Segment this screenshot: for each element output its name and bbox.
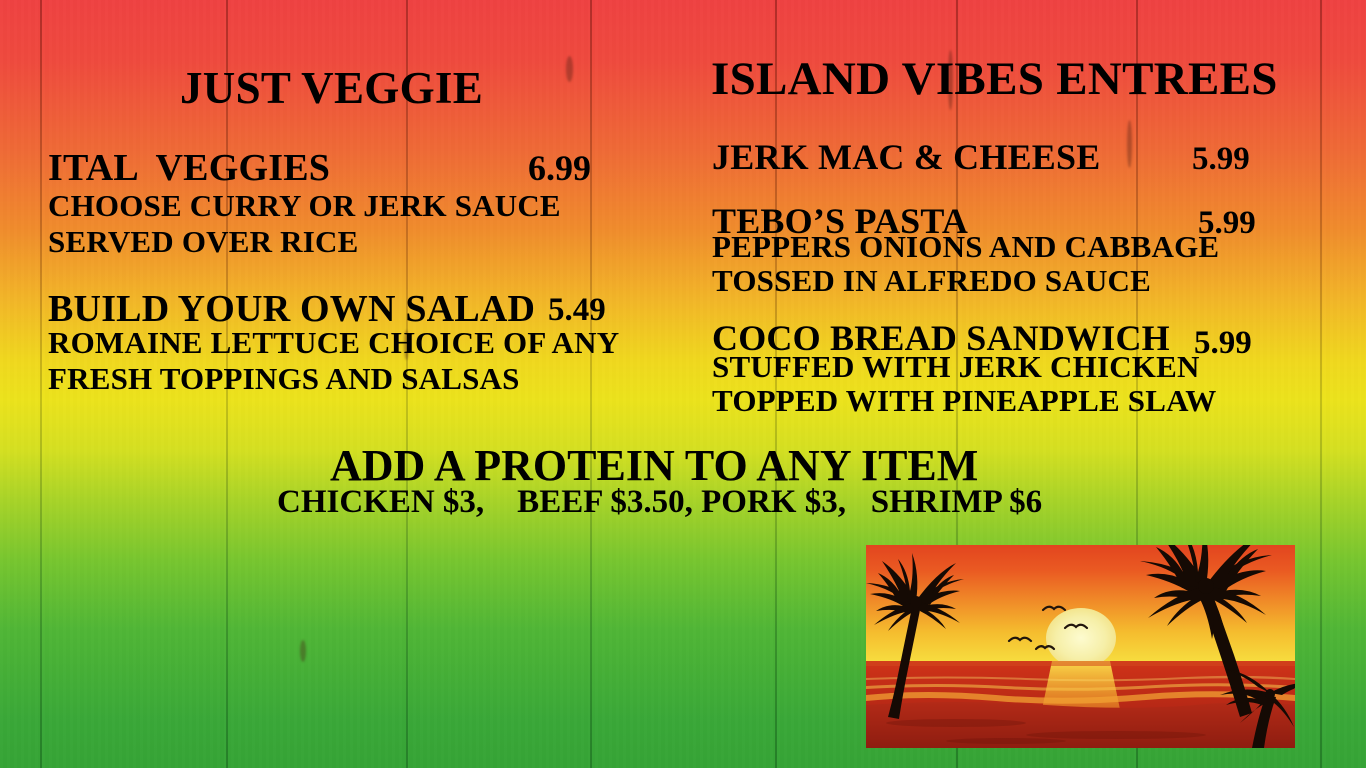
- section-title-just-veggie: JUST VEGGIE: [180, 62, 483, 114]
- menu-item-desc-line: CHOOSE CURRY OR JERK SAUCE: [48, 188, 561, 224]
- plank-seam: [590, 0, 592, 768]
- menu-item-desc-line: STUFFED WITH JERK CHICKEN: [712, 349, 1200, 385]
- wood-blot: [1127, 120, 1132, 168]
- menu-item-desc-line: PEPPERS ONIONS AND CABBAGE: [712, 229, 1219, 265]
- menu-item-name-ital-veggies: ITAL VEGGIES: [48, 146, 330, 190]
- menu-item-desc-line: ROMAINE LETTUCE CHOICE OF ANY: [48, 325, 619, 361]
- menu-item-price-ital-veggies: 6.99: [528, 147, 591, 189]
- wood-blot: [300, 640, 306, 662]
- menu-item-price-build-your-own-salad: 5.49: [548, 292, 606, 329]
- menu-item-price-coco-bread-sandwich: 5.99: [1194, 325, 1252, 362]
- addons-options-line: CHICKEN $3, BEEF $3.50, PORK $3, SHRIMP …: [277, 484, 1042, 521]
- tropical-sunset-image: [866, 545, 1295, 748]
- menu-board: JUST VEGGIE ITAL VEGGIES 6.99 CHOOSE CUR…: [0, 0, 1366, 768]
- plank-seam: [40, 0, 42, 768]
- section-title-island-vibes-entrees: ISLAND VIBES ENTREES: [711, 52, 1278, 106]
- menu-item-desc-line: FRESH TOPPINGS AND SALSAS: [48, 361, 520, 397]
- plank-seam: [1320, 0, 1322, 768]
- wood-blot: [566, 56, 573, 82]
- menu-item-desc-line: SERVED OVER RICE: [48, 224, 358, 260]
- menu-item-name-jerk-mac-and-cheese: JERK MAC & CHEESE: [712, 136, 1100, 178]
- menu-item-price-jerk-mac-and-cheese: 5.99: [1192, 141, 1250, 178]
- menu-item-desc-line: TOSSED IN ALFREDO SAUCE: [712, 263, 1151, 299]
- sun: [1046, 608, 1116, 668]
- sunset-illustration: [866, 545, 1295, 748]
- menu-item-desc-line: TOPPED WITH PINEAPPLE SLAW: [712, 383, 1216, 419]
